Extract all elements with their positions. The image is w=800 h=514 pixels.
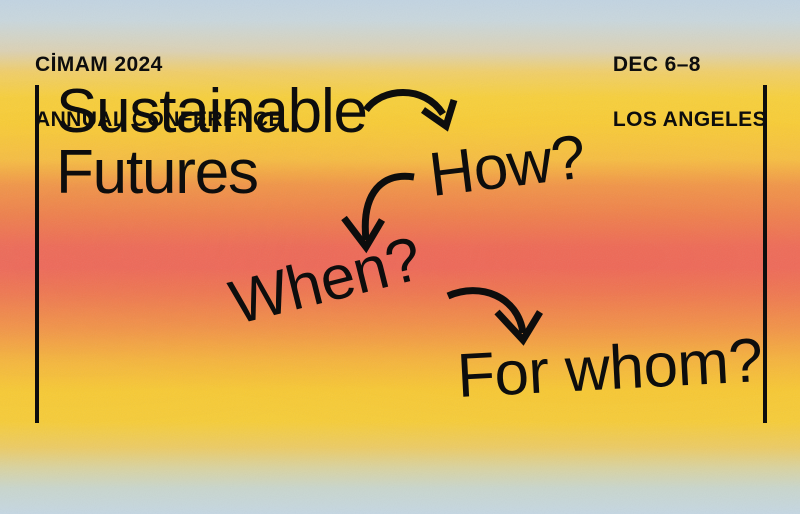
page-title-line-2: Futures (56, 142, 367, 203)
dates-and-city: DEC 6–8 LOS ANGELES (613, 24, 767, 160)
poster-canvas: CİMAM 2024 ANNUAL CONFERENCE DEC 6–8 LOS… (0, 0, 800, 514)
organization-label: CİMAM 2024 (35, 51, 283, 78)
conference-city: LOS ANGELES (613, 106, 767, 133)
page-title: Sustainable Futures (56, 81, 367, 204)
conference-dates: DEC 6–8 (613, 51, 767, 78)
page-title-line-1: Sustainable (56, 81, 367, 142)
